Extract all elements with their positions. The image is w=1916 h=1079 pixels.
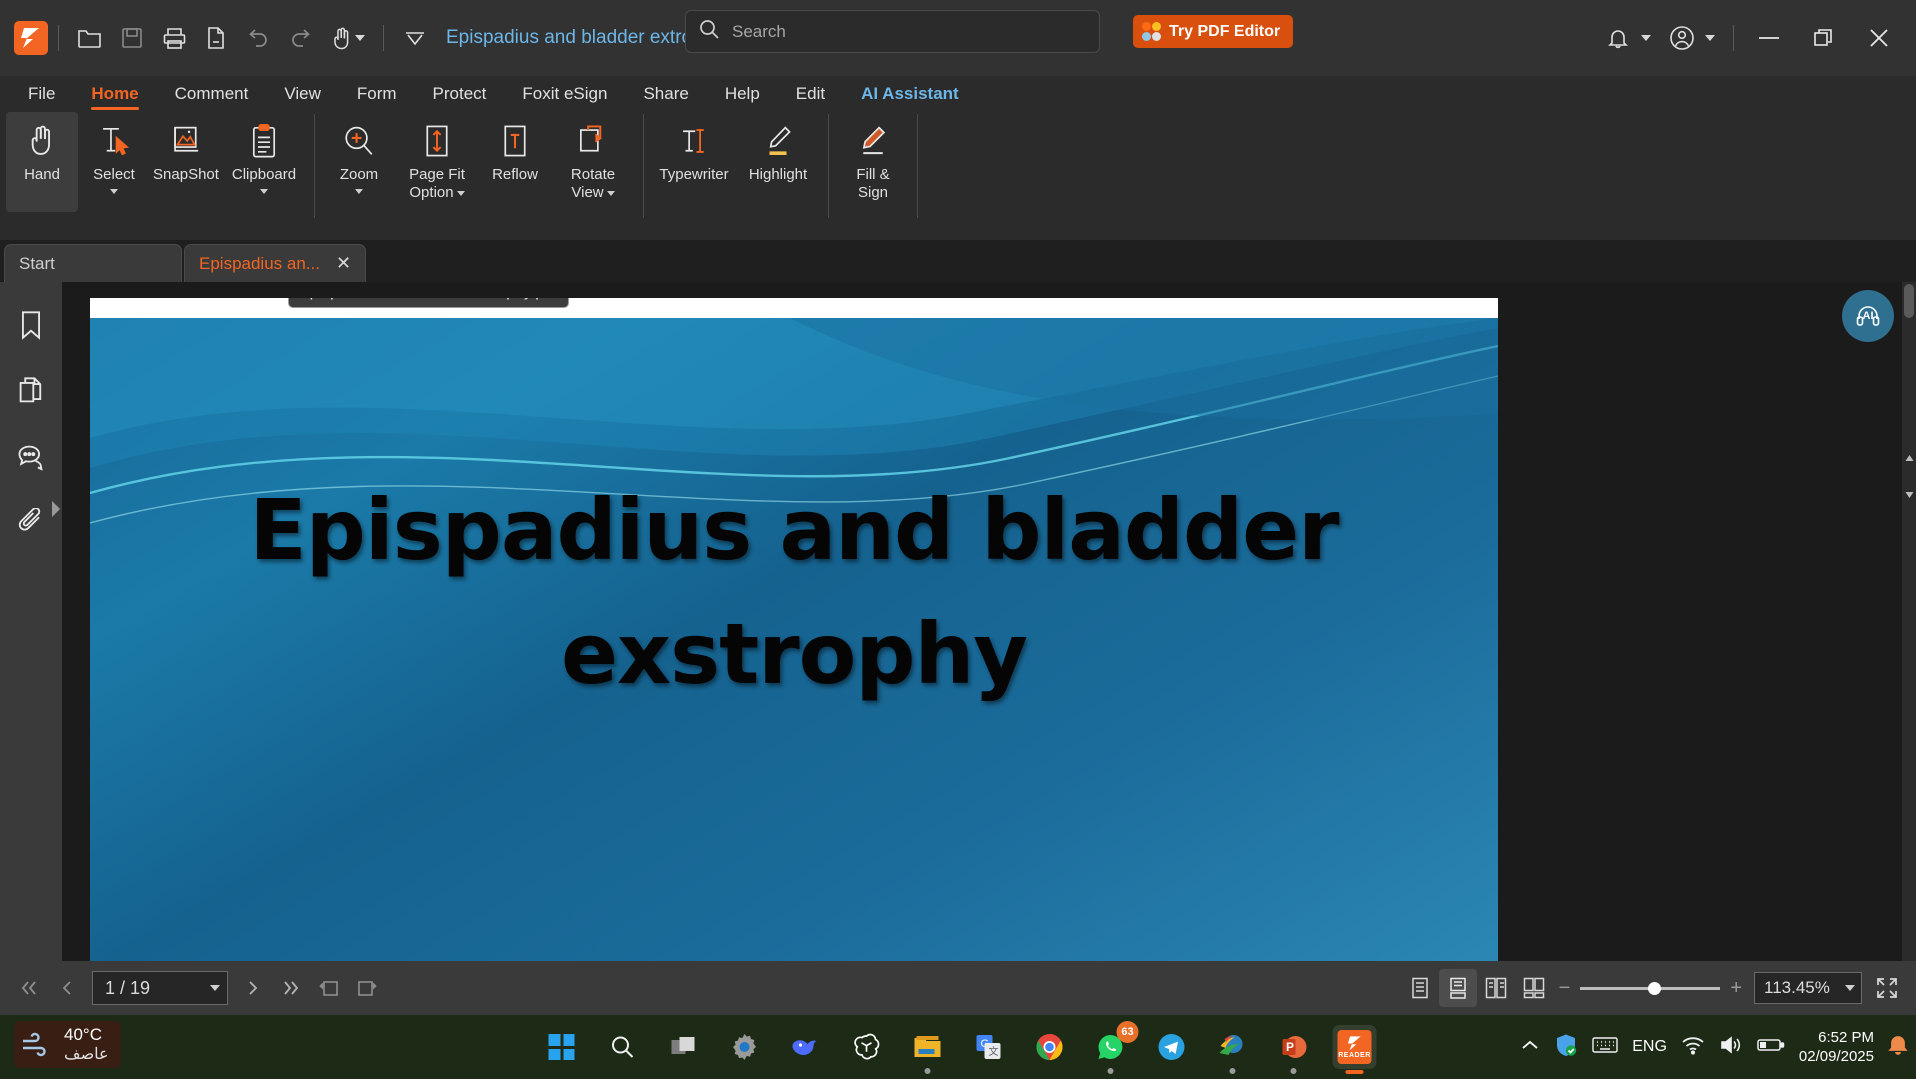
zoom-slider-knob[interactable] xyxy=(1648,982,1661,995)
windows-security-tray-button[interactable] xyxy=(1554,1033,1578,1062)
typewriter-label: Typewriter xyxy=(659,166,728,184)
select-icon xyxy=(98,118,130,164)
sidebar-item-bookmarks[interactable] xyxy=(0,292,62,358)
zoom-level-value: 113.45% xyxy=(1764,978,1830,998)
zoom-in-button[interactable]: + xyxy=(1730,977,1742,1000)
deepseek-app-button[interactable] xyxy=(784,1025,828,1069)
foxit-reader-icon: READER xyxy=(1338,1030,1372,1064)
foxit-reader-window: Epispadius and bladder extrophy.pdf Sear… xyxy=(0,0,1916,1079)
search-icon xyxy=(610,1034,636,1060)
bell-icon xyxy=(1888,1034,1908,1056)
running-indicator xyxy=(1291,1068,1297,1074)
typewriter-icon xyxy=(678,118,710,164)
running-indicator xyxy=(1108,1068,1114,1074)
hand-tool-icon[interactable] xyxy=(321,17,373,59)
search-icon xyxy=(698,18,720,45)
ribbon-group-view: Zoom Page Fit Option xyxy=(323,112,635,222)
customize-toolbar-icon[interactable] xyxy=(394,17,436,59)
ai-assistant-floating-button[interactable]: AI xyxy=(1842,290,1894,342)
telegram-icon xyxy=(1158,1033,1186,1061)
page-fit-label-2: Option xyxy=(409,184,464,202)
start-button[interactable] xyxy=(540,1025,584,1069)
ribbon-divider-3 xyxy=(828,114,829,218)
account-avatar-icon[interactable] xyxy=(1661,17,1703,59)
search-taskbar-button[interactable] xyxy=(601,1025,645,1069)
ribbon-group-annotate: Typewriter Highlight xyxy=(652,112,820,222)
create-pdf-icon[interactable] xyxy=(195,17,237,59)
save-file-icon[interactable] xyxy=(111,17,153,59)
reflow-icon xyxy=(501,118,529,164)
snapshot-icon xyxy=(169,118,203,164)
select-button[interactable]: Select xyxy=(78,112,150,212)
google-translate-button[interactable]: G 文 xyxy=(967,1025,1011,1069)
ribbon-divider-4 xyxy=(917,114,918,218)
notifications-bell-icon[interactable] xyxy=(1597,17,1639,59)
facing-view-button[interactable] xyxy=(1477,969,1515,1007)
account-chevron-down-icon[interactable] xyxy=(1705,35,1715,41)
single-page-view-button[interactable] xyxy=(1401,969,1439,1007)
last-page-button[interactable] xyxy=(272,969,310,1007)
undo-icon[interactable] xyxy=(237,17,279,59)
windows-logo-icon xyxy=(549,1034,575,1060)
task-view-icon xyxy=(671,1035,697,1059)
highlight-label: Highlight xyxy=(749,166,807,184)
whatsapp-app-button[interactable]: 63 xyxy=(1089,1025,1133,1069)
internet-download-manager-button[interactable] xyxy=(1211,1025,1255,1069)
menu-item-ai-assistant[interactable]: AI Assistant xyxy=(843,76,977,112)
zoom-slider-track[interactable] xyxy=(1580,987,1720,990)
chrome-icon xyxy=(1036,1033,1064,1061)
scroll-down-icon[interactable] xyxy=(1902,486,1916,502)
page-number-input[interactable]: 1 / 19 xyxy=(92,971,228,1005)
toolbar-divider-2 xyxy=(383,25,384,51)
minimize-button[interactable] xyxy=(1742,17,1796,59)
bookmark-icon xyxy=(18,310,44,340)
gear-icon xyxy=(731,1033,759,1061)
clipboard-label: Clipboard xyxy=(232,166,296,184)
hand-tool-chevron-down-icon[interactable] xyxy=(355,35,365,41)
ai-badge-label: AI xyxy=(1863,310,1874,322)
tab-document-label: Epispadius an... xyxy=(199,254,320,274)
weather-temperature: 40°C xyxy=(64,1024,109,1045)
rotate-view-label-2: View xyxy=(571,184,614,202)
slide-title-line-1: Epispadius and bladder xyxy=(90,468,1498,592)
tab-close-icon[interactable]: ✕ xyxy=(336,253,351,274)
powerpoint-icon: P xyxy=(1280,1033,1308,1061)
ribbon-toolbar: Hand Select xyxy=(0,112,1916,240)
snapshot-button[interactable]: SnapShot xyxy=(150,112,222,212)
volume-icon xyxy=(1719,1035,1743,1055)
page-fit-label: Page Fit xyxy=(409,166,465,184)
sidebar-item-comments[interactable] xyxy=(0,424,62,490)
tab-start-label: Start xyxy=(19,254,55,274)
previous-page-button[interactable] xyxy=(48,969,86,1007)
svg-text:文: 文 xyxy=(989,1045,999,1058)
toolbar-divider-1 xyxy=(58,25,59,51)
notifications-chevron-down-icon[interactable] xyxy=(1641,35,1651,41)
clipboard-button[interactable]: Clipboard xyxy=(222,112,306,212)
reflow-label: Reflow xyxy=(492,166,538,184)
continuous-view-button[interactable] xyxy=(1439,969,1477,1007)
rotate-view-text: View xyxy=(571,184,603,201)
tab-epispadius-document[interactable]: Epispadius an... ✕ xyxy=(184,244,366,282)
zoom-out-button[interactable]: − xyxy=(1559,977,1571,1000)
paperclip-icon xyxy=(17,508,45,538)
powerpoint-app-button[interactable]: P xyxy=(1272,1025,1316,1069)
snapshot-label: SnapShot xyxy=(153,166,219,184)
language-indicator[interactable]: ENG xyxy=(1632,1038,1667,1056)
ribbon-divider-2 xyxy=(643,114,644,218)
menu-item-edit[interactable]: Edit xyxy=(778,76,843,112)
navigation-panel xyxy=(0,282,62,961)
hand-button[interactable]: Hand xyxy=(6,112,78,212)
page-chevron-down-icon[interactable] xyxy=(209,984,221,993)
select-chevron-down-icon[interactable] xyxy=(110,189,118,194)
notification-center-button[interactable] xyxy=(1888,1034,1908,1061)
redo-icon[interactable] xyxy=(279,17,321,59)
document-tooltip: Epispadius and bladder extrophy.pdf xyxy=(288,298,569,308)
ribbon-group-sign: Fill & Sign xyxy=(837,112,909,222)
search-input[interactable]: Search xyxy=(685,10,1100,53)
chatgpt-icon xyxy=(853,1033,881,1061)
system-tray: ENG 6:52 PM 02/ xyxy=(1520,1015,1908,1079)
menu-item-share[interactable]: Share xyxy=(625,76,706,112)
zoom-label: Zoom xyxy=(340,166,378,184)
zoom-chevron-down-icon[interactable] xyxy=(355,189,363,194)
first-page-button[interactable] xyxy=(10,969,48,1007)
pages-icon xyxy=(17,376,45,406)
hand-icon xyxy=(26,118,58,164)
fill-sign-icon xyxy=(858,118,888,164)
next-page-button[interactable] xyxy=(234,969,272,1007)
title-bar: Epispadius and bladder extrophy.pdf Sear… xyxy=(0,0,1916,76)
battery-button[interactable] xyxy=(1757,1037,1785,1058)
pdf-page: Epispadius and bladder exstrophy Epispad… xyxy=(90,298,1498,961)
deepseek-icon xyxy=(791,1034,821,1060)
fill-sign-label-2: Sign xyxy=(858,184,888,202)
running-indicator xyxy=(925,1068,931,1074)
windy-weather-icon xyxy=(20,1030,54,1060)
comment-icon xyxy=(16,443,46,471)
slide-background: Epispadius and bladder exstrophy xyxy=(90,318,1498,961)
foxit-reader-app-button[interactable]: READER xyxy=(1333,1025,1377,1069)
scroll-up-icon[interactable] xyxy=(1902,450,1916,466)
next-view-button[interactable] xyxy=(348,969,386,1007)
clipboard-chevron-down-icon[interactable] xyxy=(260,189,268,194)
menu-bar: File Home Comment View Form Protect Foxi… xyxy=(0,76,1916,112)
close-button[interactable] xyxy=(1850,17,1908,59)
menu-item-form[interactable]: Form xyxy=(339,76,415,112)
hand-label: Hand xyxy=(24,166,60,184)
touch-keyboard-button[interactable] xyxy=(1592,1036,1618,1059)
taskbar-app-list: G 文 63 xyxy=(540,1015,1377,1079)
sidebar-item-page-thumbnails[interactable] xyxy=(0,358,62,424)
clock-date: 02/09/2025 xyxy=(1799,1047,1874,1067)
whatsapp-badge: 63 xyxy=(1117,1021,1139,1043)
slide-title-line-2: exstrophy xyxy=(90,592,1498,716)
previous-view-button[interactable] xyxy=(310,969,348,1007)
settings-app-button[interactable] xyxy=(723,1025,767,1069)
tab-start[interactable]: Start xyxy=(4,244,182,282)
document-vertical-scrollbar[interactable] xyxy=(1902,282,1916,961)
restore-button[interactable] xyxy=(1796,17,1850,59)
taskbar-clock[interactable]: 6:52 PM 02/09/2025 xyxy=(1799,1028,1874,1067)
try-pdf-editor-button[interactable]: Try PDF Editor xyxy=(1133,15,1293,48)
active-indicator xyxy=(1346,1070,1364,1074)
search-placeholder: Search xyxy=(732,22,786,42)
open-file-icon[interactable] xyxy=(69,17,111,59)
try-pdf-editor-label: Try PDF Editor xyxy=(1169,23,1280,41)
chevron-up-icon xyxy=(1520,1038,1540,1052)
foxit-logo-icon xyxy=(14,21,48,55)
page-fit-option-text: Option xyxy=(409,184,453,201)
page-fit-button[interactable]: Page Fit Option xyxy=(395,112,479,212)
svg-text:P: P xyxy=(1286,1040,1294,1054)
ribbon-group-tools: Hand Select xyxy=(6,112,306,222)
telegram-app-button[interactable] xyxy=(1150,1025,1194,1069)
menu-item-help[interactable]: Help xyxy=(707,76,778,112)
zoom-slider[interactable]: − + xyxy=(1559,977,1742,1000)
menu-item-file[interactable]: File xyxy=(10,76,73,112)
wifi-icon xyxy=(1681,1035,1705,1055)
menu-item-view[interactable]: View xyxy=(266,76,339,112)
highlight-button[interactable]: Highlight xyxy=(736,112,820,212)
menu-item-foxit-esign[interactable]: Foxit eSign xyxy=(504,76,625,112)
page-fit-chevron-down-icon[interactable] xyxy=(457,191,465,196)
rotate-view-chevron-down-icon[interactable] xyxy=(607,191,615,196)
document-viewport[interactable]: Epispadius and bladder exstrophy Epispad… xyxy=(62,282,1916,961)
weather-condition: عاصف xyxy=(64,1045,109,1065)
task-view-button[interactable] xyxy=(662,1025,706,1069)
window-controls xyxy=(1597,0,1908,76)
print-icon[interactable] xyxy=(153,17,195,59)
shield-icon xyxy=(1554,1033,1578,1057)
idm-icon xyxy=(1218,1033,1248,1061)
page-number-value: 1 / 19 xyxy=(105,978,150,999)
network-button[interactable] xyxy=(1681,1035,1705,1060)
chatgpt-app-button[interactable] xyxy=(845,1025,889,1069)
expand-panel-button[interactable] xyxy=(50,500,62,523)
highlight-icon xyxy=(763,118,793,164)
weather-widget[interactable]: 40°C عاصف xyxy=(14,1021,121,1068)
typewriter-button[interactable]: Typewriter xyxy=(652,112,736,212)
scrollbar-thumb[interactable] xyxy=(1904,284,1914,318)
reflow-button[interactable]: Reflow xyxy=(479,112,551,212)
clock-time: 6:52 PM xyxy=(1799,1028,1874,1048)
menu-item-comment[interactable]: Comment xyxy=(157,76,267,112)
document-tab-bar: Start Epispadius an... ✕ xyxy=(0,240,1916,282)
battery-icon xyxy=(1757,1037,1785,1053)
select-label: Select xyxy=(93,166,135,184)
file-explorer-button[interactable] xyxy=(906,1025,950,1069)
folder-icon xyxy=(913,1034,943,1060)
rotate-view-label: Rotate xyxy=(571,166,615,184)
rotate-view-icon xyxy=(578,118,608,164)
zoom-button[interactable]: Zoom xyxy=(323,112,395,212)
volume-button[interactable] xyxy=(1719,1035,1743,1060)
window-controls-divider xyxy=(1733,25,1734,51)
fill-and-sign-button[interactable]: Fill & Sign xyxy=(837,112,909,212)
page-fit-icon xyxy=(423,118,451,164)
slide-title: Epispadius and bladder exstrophy xyxy=(90,468,1498,717)
pdf-editor-icon xyxy=(1142,22,1161,41)
google-chrome-button[interactable] xyxy=(1028,1025,1072,1069)
rotate-view-button[interactable]: Rotate View xyxy=(551,112,635,212)
zoom-icon xyxy=(342,118,376,164)
zoom-level-input[interactable]: 113.45% xyxy=(1754,972,1862,1004)
windows-taskbar: 40°C عاصف xyxy=(0,1015,1916,1079)
zoom-chevron-down-icon[interactable] xyxy=(1844,984,1856,993)
weather-text: 40°C عاصف xyxy=(64,1024,109,1065)
running-indicator xyxy=(1230,1068,1236,1074)
menu-item-home[interactable]: Home xyxy=(73,76,156,112)
fill-sign-label: Fill & xyxy=(856,166,889,184)
show-hidden-icons-button[interactable] xyxy=(1520,1038,1540,1057)
full-screen-button[interactable] xyxy=(1868,969,1906,1007)
continuous-facing-view-button[interactable] xyxy=(1515,969,1553,1007)
clipboard-icon xyxy=(249,118,279,164)
status-bar-right: − + 113.45% xyxy=(1401,969,1906,1007)
ribbon-divider-1 xyxy=(314,114,315,218)
menu-item-protect[interactable]: Protect xyxy=(415,76,505,112)
keyboard-icon xyxy=(1592,1036,1618,1054)
status-bar: 1 / 19 xyxy=(0,961,1916,1015)
google-translate-icon: G 文 xyxy=(975,1033,1003,1061)
